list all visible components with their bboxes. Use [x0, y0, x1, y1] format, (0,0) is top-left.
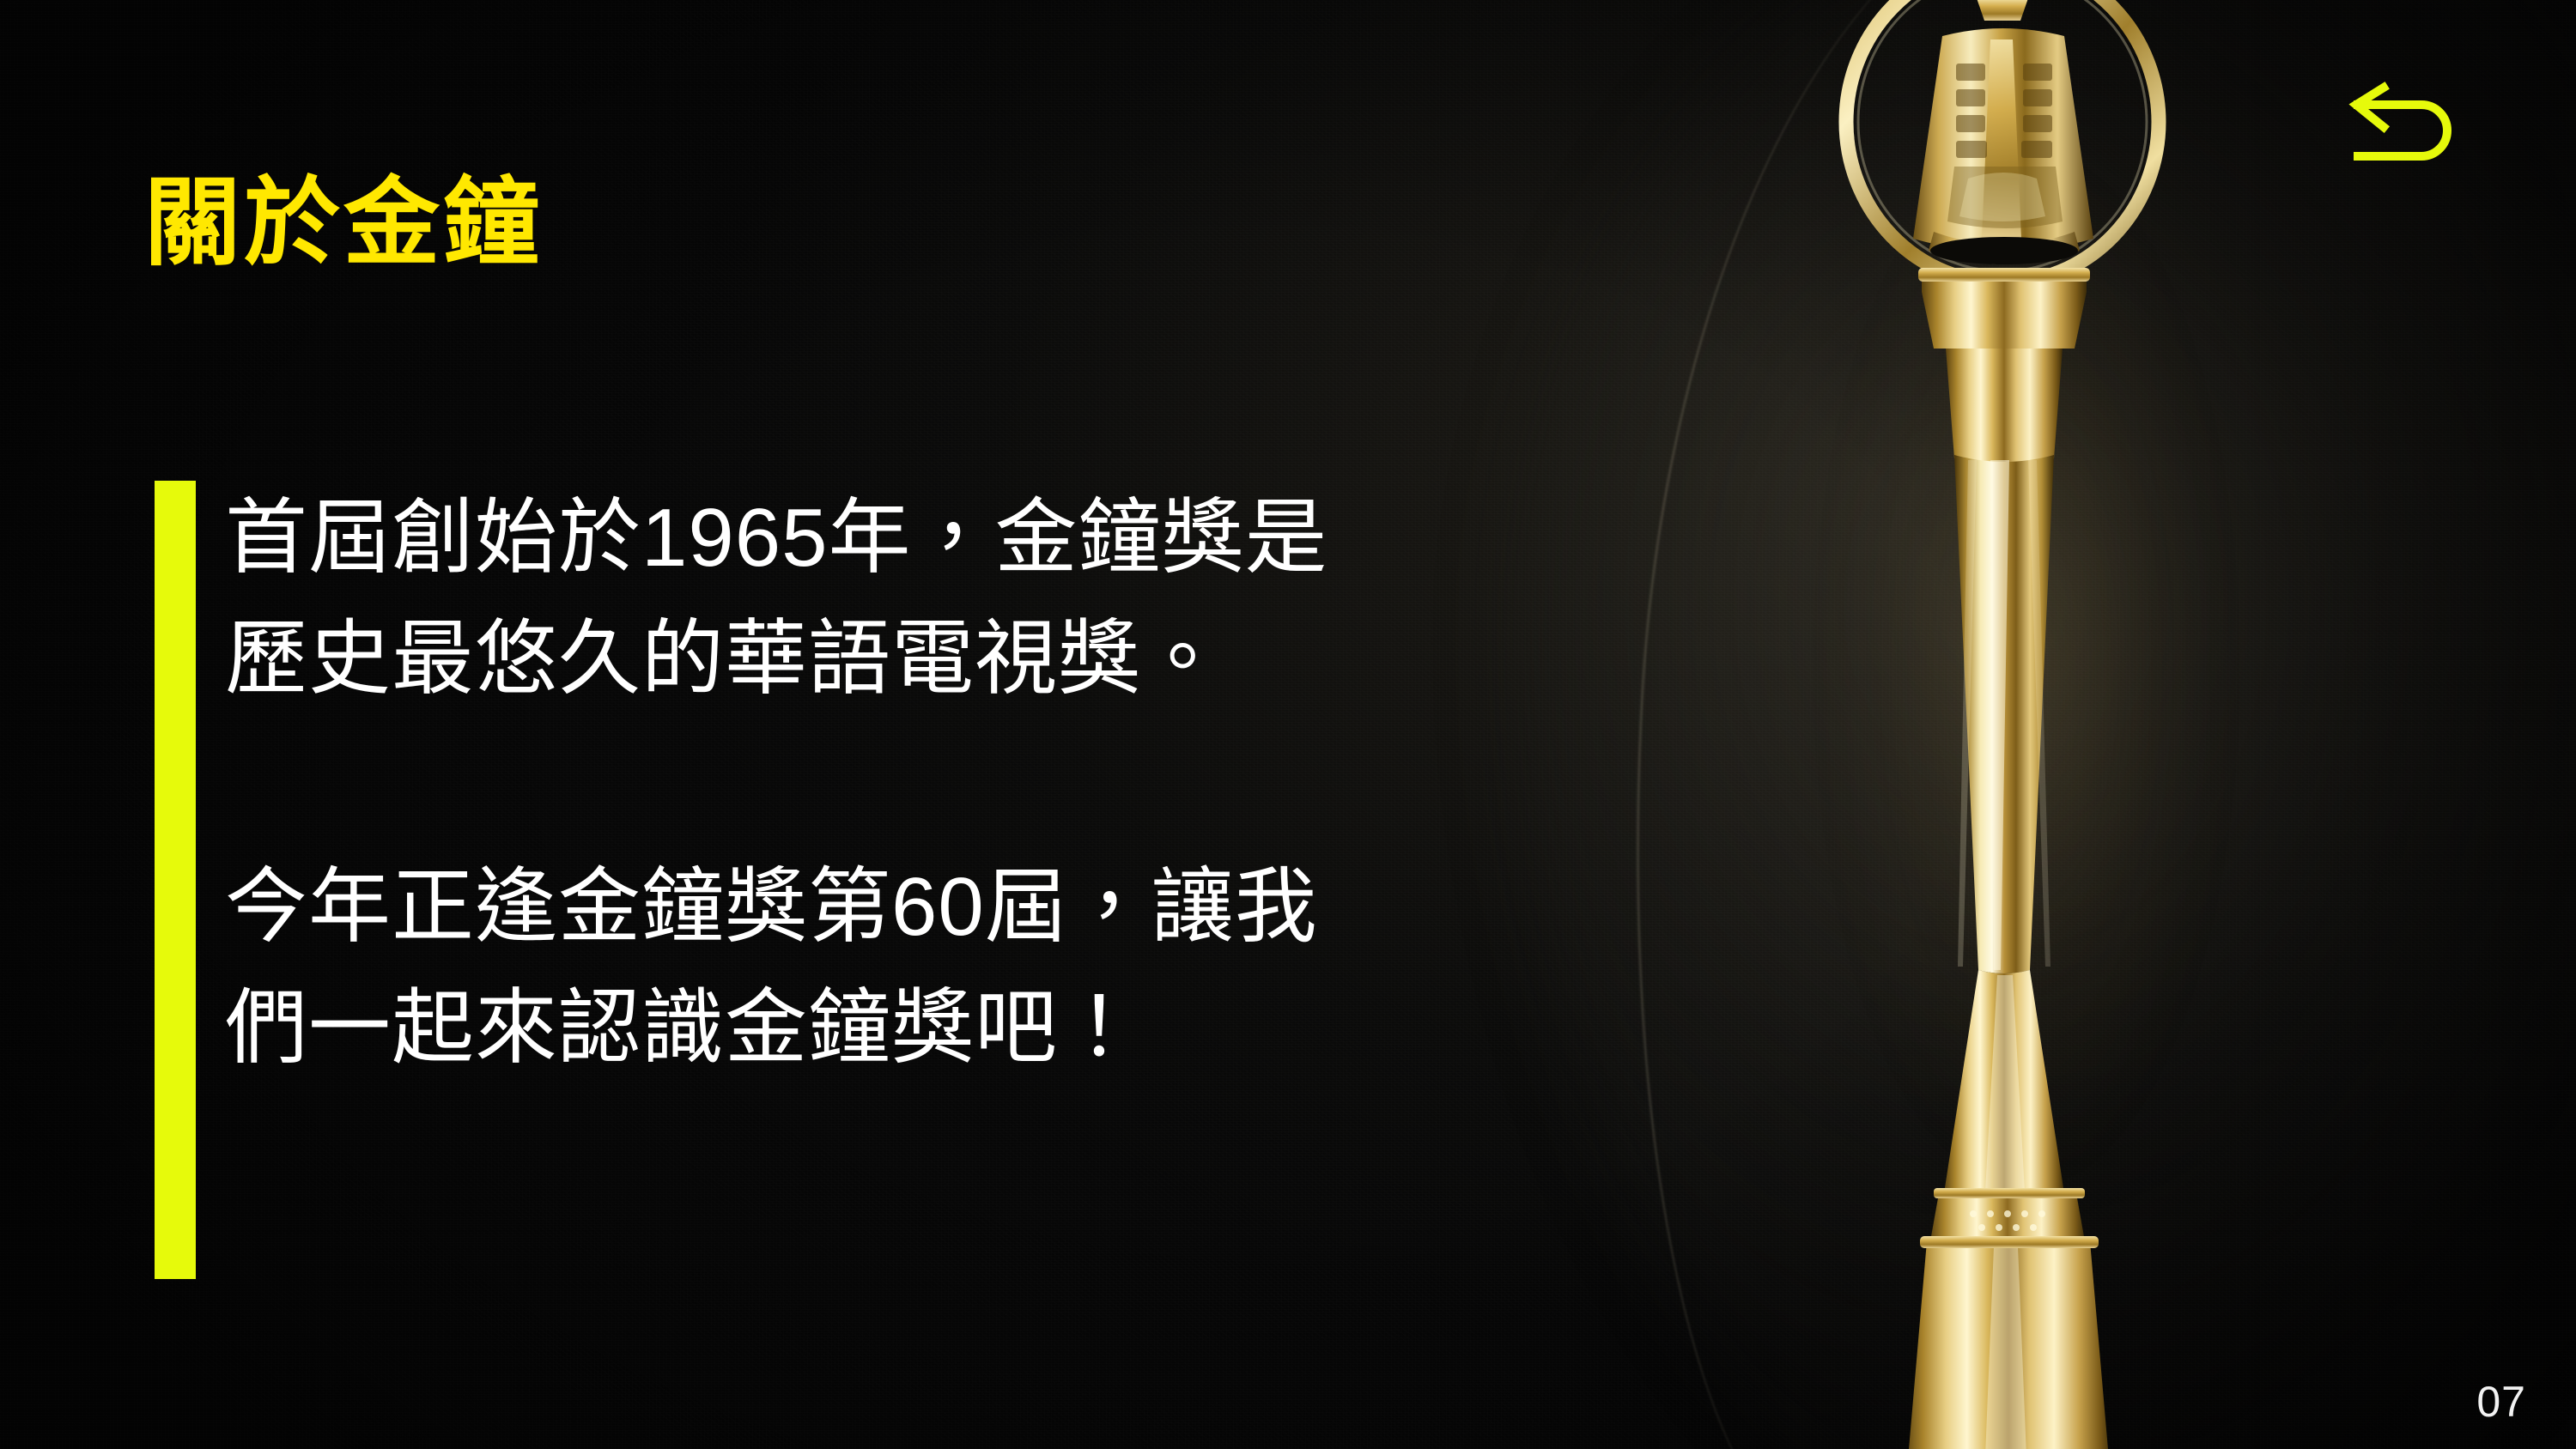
page-title: 關於金鐘 — [144, 168, 543, 278]
paragraph-2-line-1: 今年正逢金鐘獎第60屆，讓我 — [225, 846, 1771, 967]
slide-root: 關於金鐘 首屆創始於1965年，金鐘獎是 歷史最悠久的華語電視獎。 今年正逢金鐘… — [0, 0, 2576, 1449]
page-number: 07 — [2476, 1377, 2526, 1427]
paragraph-1: 首屆創始於1965年，金鐘獎是 歷史最悠久的華語電視獎。 — [225, 477, 1771, 719]
paragraph-2: 今年正逢金鐘獎第60屆，讓我 們一起來認識金鐘獎吧！ — [225, 846, 1771, 1088]
accent-bar — [155, 481, 196, 1279]
paragraph-2-line-2: 們一起來認識金鐘獎吧！ — [225, 967, 1771, 1088]
back-button[interactable] — [2339, 77, 2468, 189]
body-text-block: 首屆創始於1965年，金鐘獎是 歷史最悠久的華語電視獎。 今年正逢金鐘獎第60屆… — [225, 477, 1771, 1088]
undo-arrow-icon — [2339, 77, 2468, 189]
paragraph-1-line-1: 首屆創始於1965年，金鐘獎是 — [225, 477, 1771, 598]
paragraph-1-line-2: 歷史最悠久的華語電視獎。 — [225, 598, 1771, 719]
slide-content: 關於金鐘 首屆創始於1965年，金鐘獎是 歷史最悠久的華語電視獎。 今年正逢金鐘… — [0, 0, 1786, 1449]
